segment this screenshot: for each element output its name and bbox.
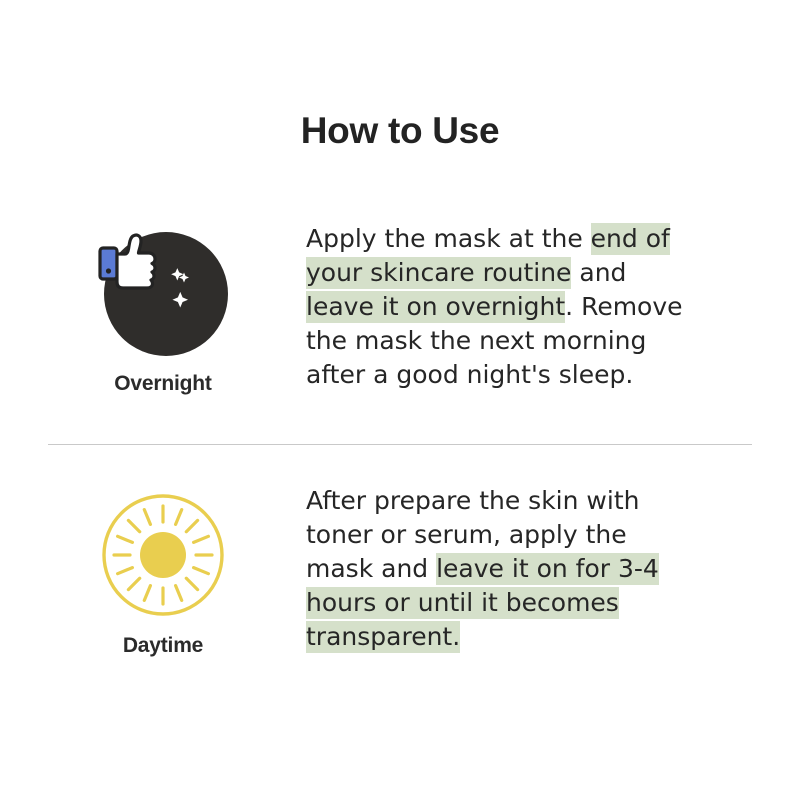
overnight-icon-column: Overnight: [48, 218, 278, 396]
daytime-label: Daytime: [123, 634, 203, 658]
highlighted-text: end of your skincare routine: [306, 223, 670, 289]
section-overnight: Overnight Apply the mask at the end of y…: [48, 218, 752, 396]
moon-night-icon: [98, 228, 228, 358]
daytime-icon-column: Daytime: [48, 480, 278, 658]
daytime-text-column: After prepare the skin with toner or ser…: [278, 480, 752, 654]
overnight-label: Overnight: [114, 372, 211, 396]
daytime-instructions: After prepare the skin with toner or ser…: [306, 484, 696, 654]
sun-day-icon: [98, 490, 228, 620]
how-to-use-page: How to Use: [0, 0, 800, 800]
highlighted-text: leave it on overnight: [306, 291, 565, 323]
page-title: How to Use: [0, 110, 800, 152]
overnight-instructions: Apply the mask at the end of your skinca…: [306, 222, 696, 392]
highlighted-text: leave it on for 3-4 hours or until it be…: [306, 553, 659, 653]
section-divider: [48, 444, 752, 445]
overnight-text-column: Apply the mask at the end of your skinca…: [278, 218, 752, 392]
section-daytime: Daytime After prepare the skin with tone…: [48, 480, 752, 658]
